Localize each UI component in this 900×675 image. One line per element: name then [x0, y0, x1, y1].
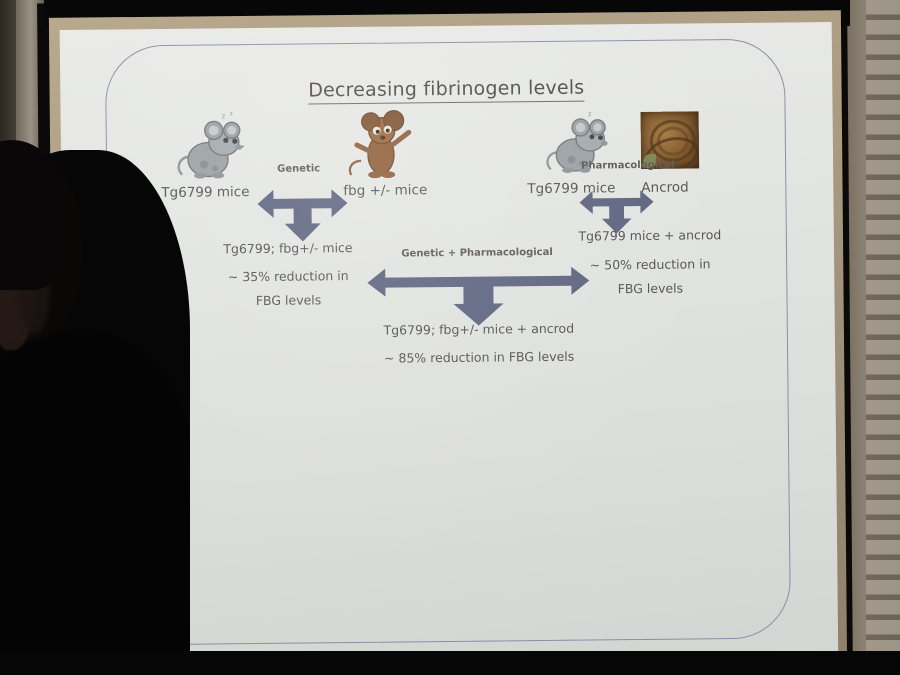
slide-title: Decreasing fibrinogen levels — [60, 74, 832, 104]
svg-text:z: z — [222, 112, 226, 120]
slide-title-text: Decreasing fibrinogen levels — [308, 77, 584, 105]
brown-mouse-icon — [347, 108, 418, 181]
left-result-line1: ~ 35% reduction in — [188, 268, 388, 285]
foreground-bottom-shadow — [0, 651, 900, 675]
person-silhouette-shoulder — [0, 330, 190, 675]
left-target-label: fbg +/- mice — [343, 182, 427, 199]
photo-scene: Decreasing fibrinogen levels — [0, 0, 900, 675]
left-arrow-label: Genetic — [277, 163, 320, 174]
combined-result-label: Tg6799; fbg+/- mice + ancrod — [349, 320, 609, 338]
svg-text:z: z — [230, 110, 233, 117]
combined-result-line1: ~ 85% reduction in FBG levels — [349, 348, 609, 366]
left-source-label: Tg6799 mice — [161, 184, 249, 201]
right-result-label: Tg6799 mice + ancrod — [550, 227, 750, 244]
gray-mouse-icon: z z — [174, 110, 249, 183]
left-result-label: Tg6799; fbg+/- mice — [188, 240, 388, 257]
right-arrow-label: Pharmacological — [581, 160, 674, 172]
window-blinds — [866, 0, 900, 675]
svg-text:z: z — [588, 110, 592, 118]
left-result-line2: FBG levels — [188, 292, 388, 309]
